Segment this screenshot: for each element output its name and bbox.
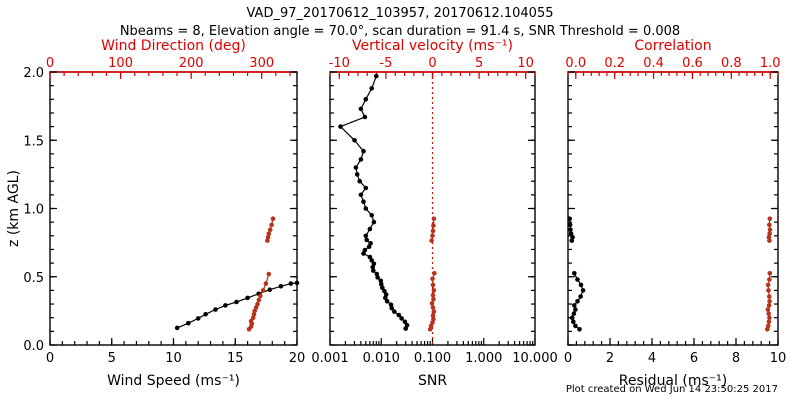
figure-canvas: 0.00.51.01.52.005101520Wind Speed (ms⁻¹)…: [0, 0, 800, 400]
panel-wind-data-point: [234, 300, 239, 305]
x-tick-label: 5: [108, 351, 116, 366]
y-tick-label: 0.5: [23, 271, 44, 286]
x-tick-label: 8: [732, 351, 740, 366]
y-tick-label: 1.5: [23, 134, 44, 149]
panel-snr-data-point: [352, 138, 357, 143]
panel-snr-data-point: [369, 86, 374, 91]
panel-snr-data-point: [363, 248, 368, 253]
panel-wind-data-point: [213, 307, 218, 312]
panel-snr-data-point: [361, 199, 366, 204]
panel-snr-data-point: [430, 301, 435, 306]
panel-snr-data-point: [432, 216, 437, 221]
panel-residual-data-point: [767, 294, 772, 299]
panel-snr-data-point: [431, 223, 436, 228]
y-tick-label: 1.0: [23, 203, 44, 218]
top-tick-label: 200: [179, 56, 204, 71]
panel-snr-data-point: [375, 272, 380, 277]
panel-wind-data-point: [264, 281, 269, 286]
panel-snr-data-point: [338, 124, 343, 129]
panel-wind-data-point: [279, 284, 284, 289]
x-tick-label: 4: [648, 351, 656, 366]
panel-residual-data-point: [581, 288, 586, 293]
x-tick-label: 10.000: [512, 351, 558, 366]
vad-plot-figure: VAD_97_20170612_103957, 20170612.104055 …: [0, 0, 800, 400]
panel-residual-data-point: [767, 232, 772, 237]
panel-residual-data-point: [579, 283, 584, 288]
panel-snr-data-point: [369, 213, 374, 218]
panel-wind-data-point: [255, 302, 260, 307]
panel-snr-data-point: [364, 206, 369, 211]
panel-snr-data-point: [368, 227, 373, 232]
panel-wind-top-axis-title: Wind Direction (deg): [101, 38, 246, 54]
panel-residual-data-point: [766, 288, 771, 293]
panel-snr-data-point: [389, 302, 394, 307]
panel-residual-data-point: [768, 271, 773, 276]
panel-residual-data-point: [569, 232, 574, 237]
y-tick-label: 0.0: [23, 339, 44, 354]
panel-wind-xaxis-title: Wind Speed (ms⁻¹): [107, 373, 240, 389]
x-tick-label: 1.000: [465, 351, 502, 366]
panel-snr-top-axis-title: Vertical velocity (ms⁻¹): [352, 38, 513, 54]
panel-residual-data-point: [568, 223, 573, 228]
panel-snr-data-point: [431, 305, 436, 310]
panel-snr-data-point: [364, 186, 369, 191]
panel-wind-data-point: [269, 223, 274, 228]
panel-snr-data-point: [363, 115, 368, 120]
x-tick-label: 0.100: [414, 351, 451, 366]
top-tick-label: 0.8: [721, 56, 742, 71]
top-tick-label: 5: [475, 56, 483, 71]
panel-wind-data-point: [268, 287, 273, 292]
panel-residual: 0246810Residual (ms⁻¹)0.00.20.40.60.81.0…: [564, 38, 786, 389]
panel-snr-data-point: [403, 320, 408, 325]
top-tick-label: -5: [379, 56, 392, 71]
x-tick-label: 10: [165, 351, 182, 366]
panel-snr-data-point: [359, 157, 364, 162]
panel-snr-data-point: [359, 107, 364, 112]
panel-wind-data-point: [223, 303, 228, 308]
panel-residual-data-point: [766, 307, 771, 312]
panel-residual-data-point: [570, 315, 575, 320]
panel-residual-data-point: [572, 271, 577, 276]
panel-snr-data-point: [361, 149, 366, 154]
panel-residual-data-point: [768, 227, 773, 232]
panel-snr-series-line: [341, 76, 408, 329]
panel-residual-data-point: [573, 324, 578, 329]
panel-residual-data-point: [767, 277, 772, 282]
x-tick-label: 0.001: [311, 351, 348, 366]
x-tick-label: 2: [606, 351, 614, 366]
panel-wind-data-point: [186, 321, 191, 326]
panel-snr-data-point: [430, 234, 435, 239]
top-tick-label: 1.0: [760, 56, 781, 71]
panel-wind-frame: [50, 72, 297, 345]
top-tick-label: 0.2: [604, 56, 625, 71]
panel-wind-data-point: [203, 312, 208, 317]
panel-residual-data-point: [766, 283, 771, 288]
top-tick-label: 0: [46, 56, 54, 71]
page-subtitle: Nbeams = 8, Elevation angle = 70.0°, sca…: [0, 24, 800, 39]
panel-snr-data-point: [432, 309, 437, 314]
panel-snr-data-point: [359, 193, 364, 198]
panel-residual-data-point: [567, 216, 572, 221]
panel-residual-data-point: [577, 327, 582, 332]
x-tick-label: 20: [289, 351, 306, 366]
top-tick-label: 300: [249, 56, 274, 71]
panel-wind-data-point: [267, 272, 272, 277]
panel-residual-data-point: [767, 223, 772, 228]
panel-residual-data-point: [578, 294, 583, 299]
panel-residual-data-point: [766, 324, 771, 329]
panel-residual-data-point: [767, 315, 772, 320]
top-tick-label: 0.4: [643, 56, 664, 71]
y-axis-title: z (km AGL): [6, 170, 22, 247]
x-tick-label: 6: [690, 351, 698, 366]
panel-snr: 0.0010.0100.1001.00010.000SNR-10-50510Ve…: [311, 38, 557, 389]
panel-residual-data-point: [766, 311, 771, 316]
panel-snr-data-point: [432, 288, 437, 293]
x-tick-label: 0: [564, 351, 572, 366]
panel-residual-data-point: [767, 303, 772, 308]
panel-snr-data-point: [431, 229, 436, 234]
panel-residual-data-point: [768, 216, 773, 221]
panel-snr-data-point: [355, 172, 360, 177]
panel-snr-data-point: [429, 238, 434, 243]
panel-residual-data-point: [572, 311, 577, 316]
panel-wind-data-point: [295, 281, 300, 286]
panel-wind-series-line: [177, 283, 297, 328]
panel-residual-data-point: [575, 277, 580, 282]
panel-residual-top-axis-title: Correlation: [634, 38, 711, 54]
panel-residual-data-point: [573, 307, 578, 312]
panel-residual-frame: [568, 72, 778, 345]
panel-wind-data-point: [196, 316, 201, 321]
panel-snr-xaxis-title: SNR: [418, 373, 447, 389]
panel-residual-data-point: [767, 299, 772, 304]
panel-residual-data-point: [571, 320, 576, 325]
top-tick-label: 100: [108, 56, 133, 71]
panel-snr-data-point: [431, 313, 436, 318]
panel-snr-data-point: [372, 220, 377, 225]
panel-residual-data-point: [767, 320, 772, 325]
panel-residual-data-point: [568, 227, 573, 232]
panel-residual-data-point: [575, 299, 580, 304]
panel-wind-data-point: [257, 298, 262, 303]
top-tick-label: 0.0: [565, 56, 586, 71]
x-tick-label: 15: [227, 351, 244, 366]
panel-snr-data-point: [379, 279, 384, 284]
panel-snr-data-point: [364, 97, 369, 102]
panel-wind-data-point: [268, 227, 273, 232]
x-tick-label: 0: [46, 351, 54, 366]
panel-snr-data-point: [432, 271, 437, 276]
panel-wind: 0.00.51.01.52.005101520Wind Speed (ms⁻¹)…: [23, 38, 305, 389]
x-tick-label: 10: [770, 351, 787, 366]
panel-residual-data-point: [572, 303, 577, 308]
panel-wind-data-point: [245, 296, 250, 301]
panel-snr-data-point: [374, 74, 379, 79]
panel-wind-data-point: [175, 326, 180, 331]
panel-wind-data-point: [267, 232, 272, 237]
top-tick-label: -10: [329, 56, 350, 71]
plot-created-note: Plot created on Wed Jun 14 23:50:25 2017: [566, 384, 778, 395]
panel-snr-data-point: [357, 179, 362, 184]
panel-snr-data-point: [368, 255, 373, 260]
panel-snr-data-point: [354, 165, 359, 170]
panel-snr-data-point: [368, 241, 373, 246]
panel-snr-data-point: [364, 238, 369, 243]
panel-wind-data-point: [271, 216, 276, 221]
top-tick-label: 10: [517, 56, 534, 71]
panel-wind-data-point: [258, 294, 263, 299]
y-tick-label: 2.0: [23, 66, 44, 81]
top-tick-label: 0: [428, 56, 436, 71]
x-tick-label: 0.010: [363, 351, 400, 366]
panel-wind-data-point: [289, 281, 294, 286]
page-title: VAD_97_20170612_103957, 20170612.104055: [0, 6, 800, 21]
panel-snr-data-point: [430, 277, 435, 282]
panel-snr-data-point: [364, 234, 369, 239]
panel-snr-data-point: [431, 297, 436, 302]
panel-wind-data-point: [261, 288, 266, 293]
panel-snr-data-point: [397, 313, 402, 318]
panel-snr-data-point: [431, 283, 436, 288]
panel-snr-data-point: [431, 293, 436, 298]
top-tick-label: 0.6: [682, 56, 703, 71]
